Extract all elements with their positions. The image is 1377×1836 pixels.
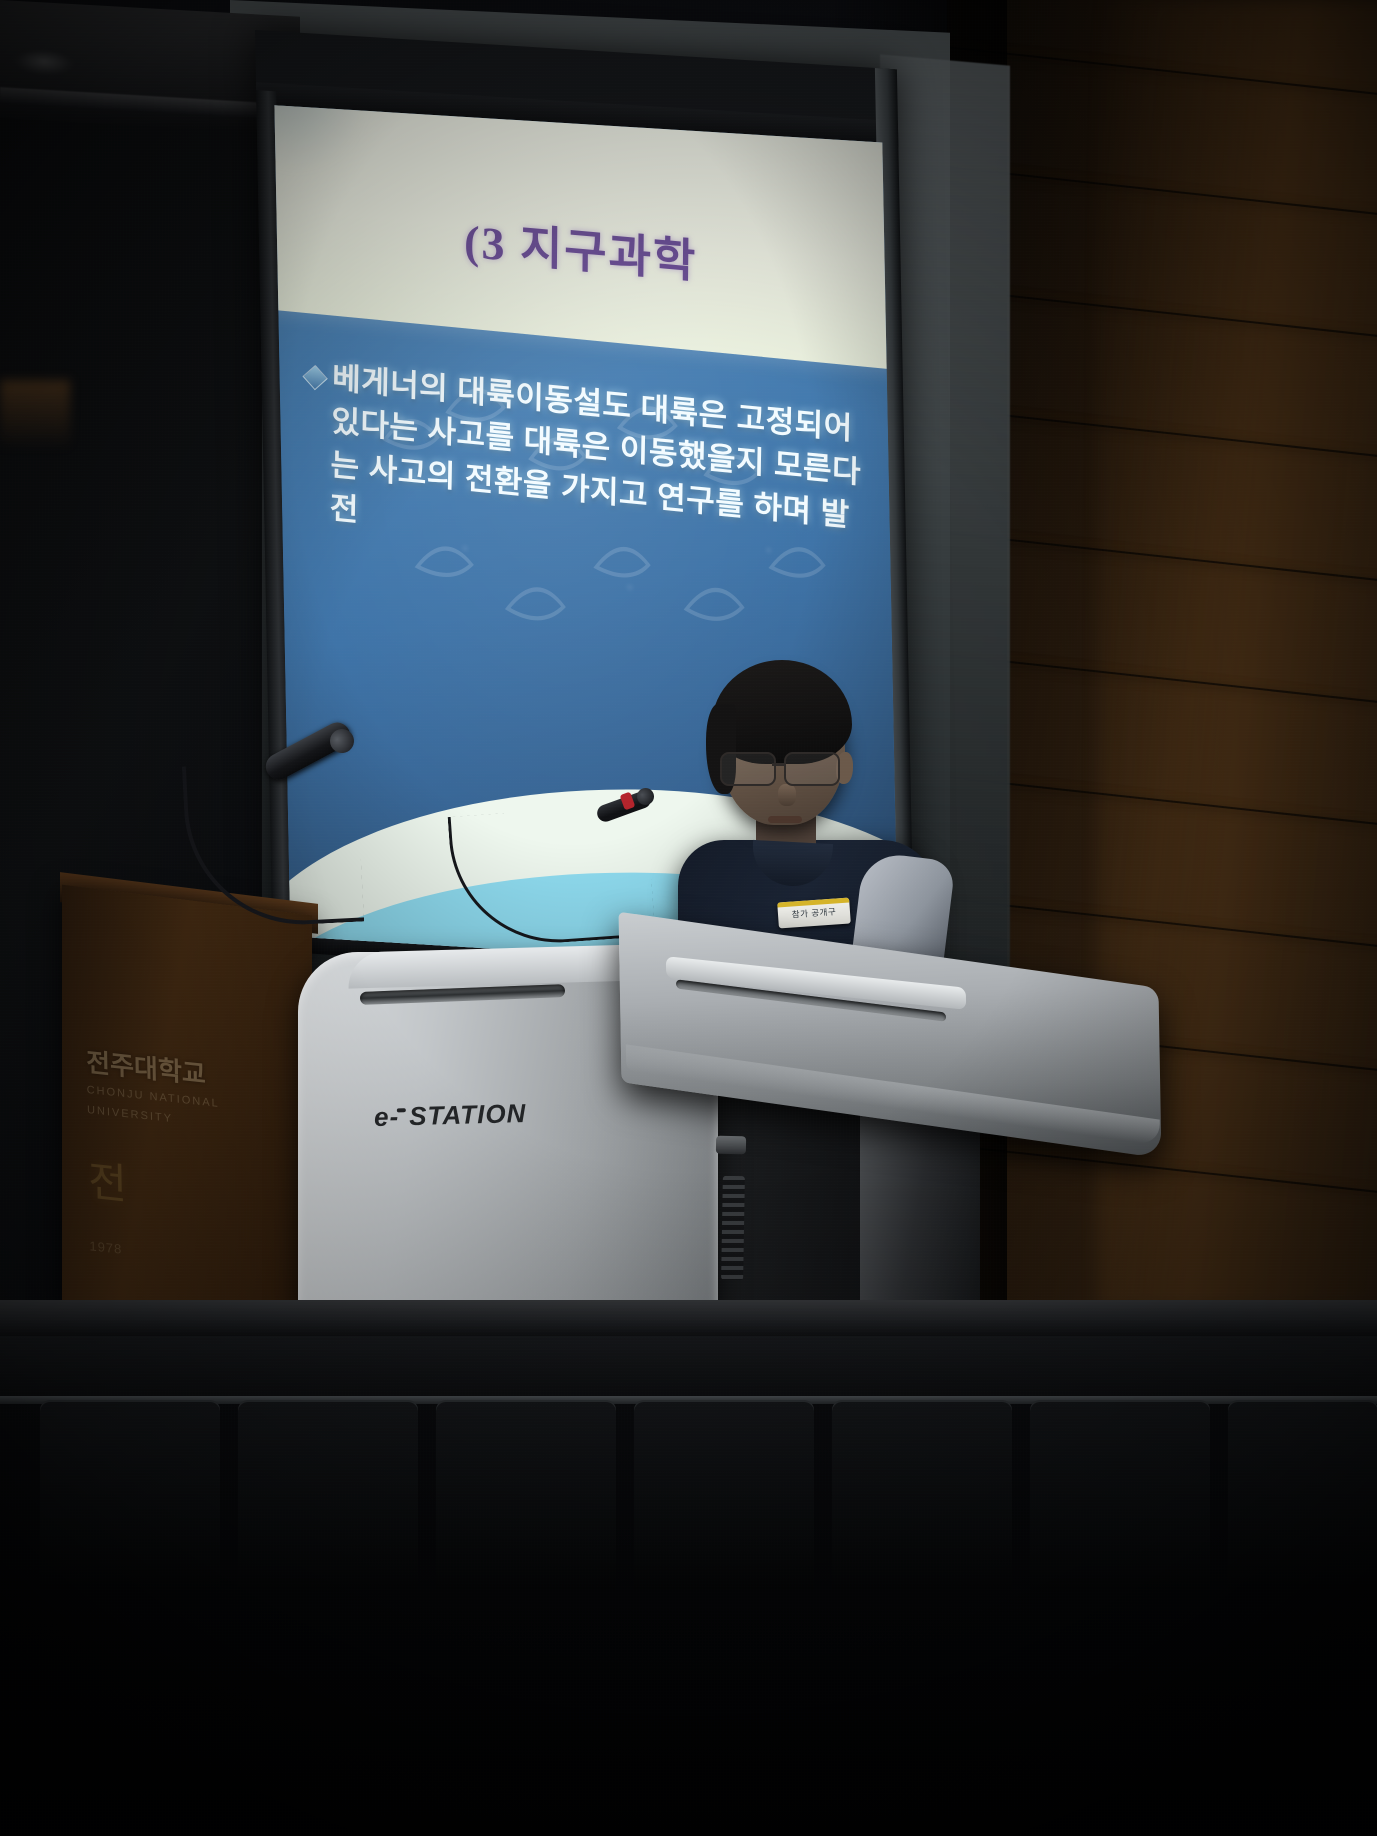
presentation-photo: (3 지구과학 베게너의 대륙이동설도 대륙은 고정되어 있다는 사고를 대륙은…	[0, 0, 1377, 1836]
audience-seat	[634, 1400, 814, 1590]
audience-seat	[238, 1400, 418, 1590]
lectern-vents	[721, 1176, 745, 1280]
audience-seat	[1030, 1400, 1210, 1590]
slide-header-shade	[274, 105, 370, 179]
speaker-mouth	[768, 816, 802, 823]
lectern-knob[interactable]	[716, 1136, 746, 1155]
lectern-brand-text: STATION	[409, 1098, 527, 1131]
name-badge-text: 참가 공개구	[791, 905, 836, 920]
speaker-nose	[778, 784, 796, 806]
diamond-bullet-icon	[303, 365, 328, 390]
audience-seat	[40, 1400, 220, 1590]
glasses-lens-left	[720, 752, 776, 786]
lectern-brand-logo: e-STATION	[374, 1098, 527, 1133]
lectern-brand-mark: e-	[374, 1101, 400, 1133]
audience-seat	[1228, 1400, 1377, 1590]
name-badge: 참가 공개구	[777, 898, 851, 929]
glasses-icon	[718, 752, 850, 786]
university-emblem-icon: 전	[88, 1147, 239, 1224]
audience-seat	[436, 1400, 616, 1590]
stage-edge	[0, 1300, 1377, 1340]
audience-seat	[832, 1400, 1012, 1590]
left-wood-accent	[0, 380, 70, 450]
university-plaque: 전주대학교 CHONJU NATIONAL UNIVERSITY 전 1978	[86, 1042, 240, 1308]
recessed-downlight-icon	[14, 47, 74, 76]
plaque-code: 1978	[89, 1238, 239, 1269]
glasses-lens-right	[784, 752, 840, 786]
